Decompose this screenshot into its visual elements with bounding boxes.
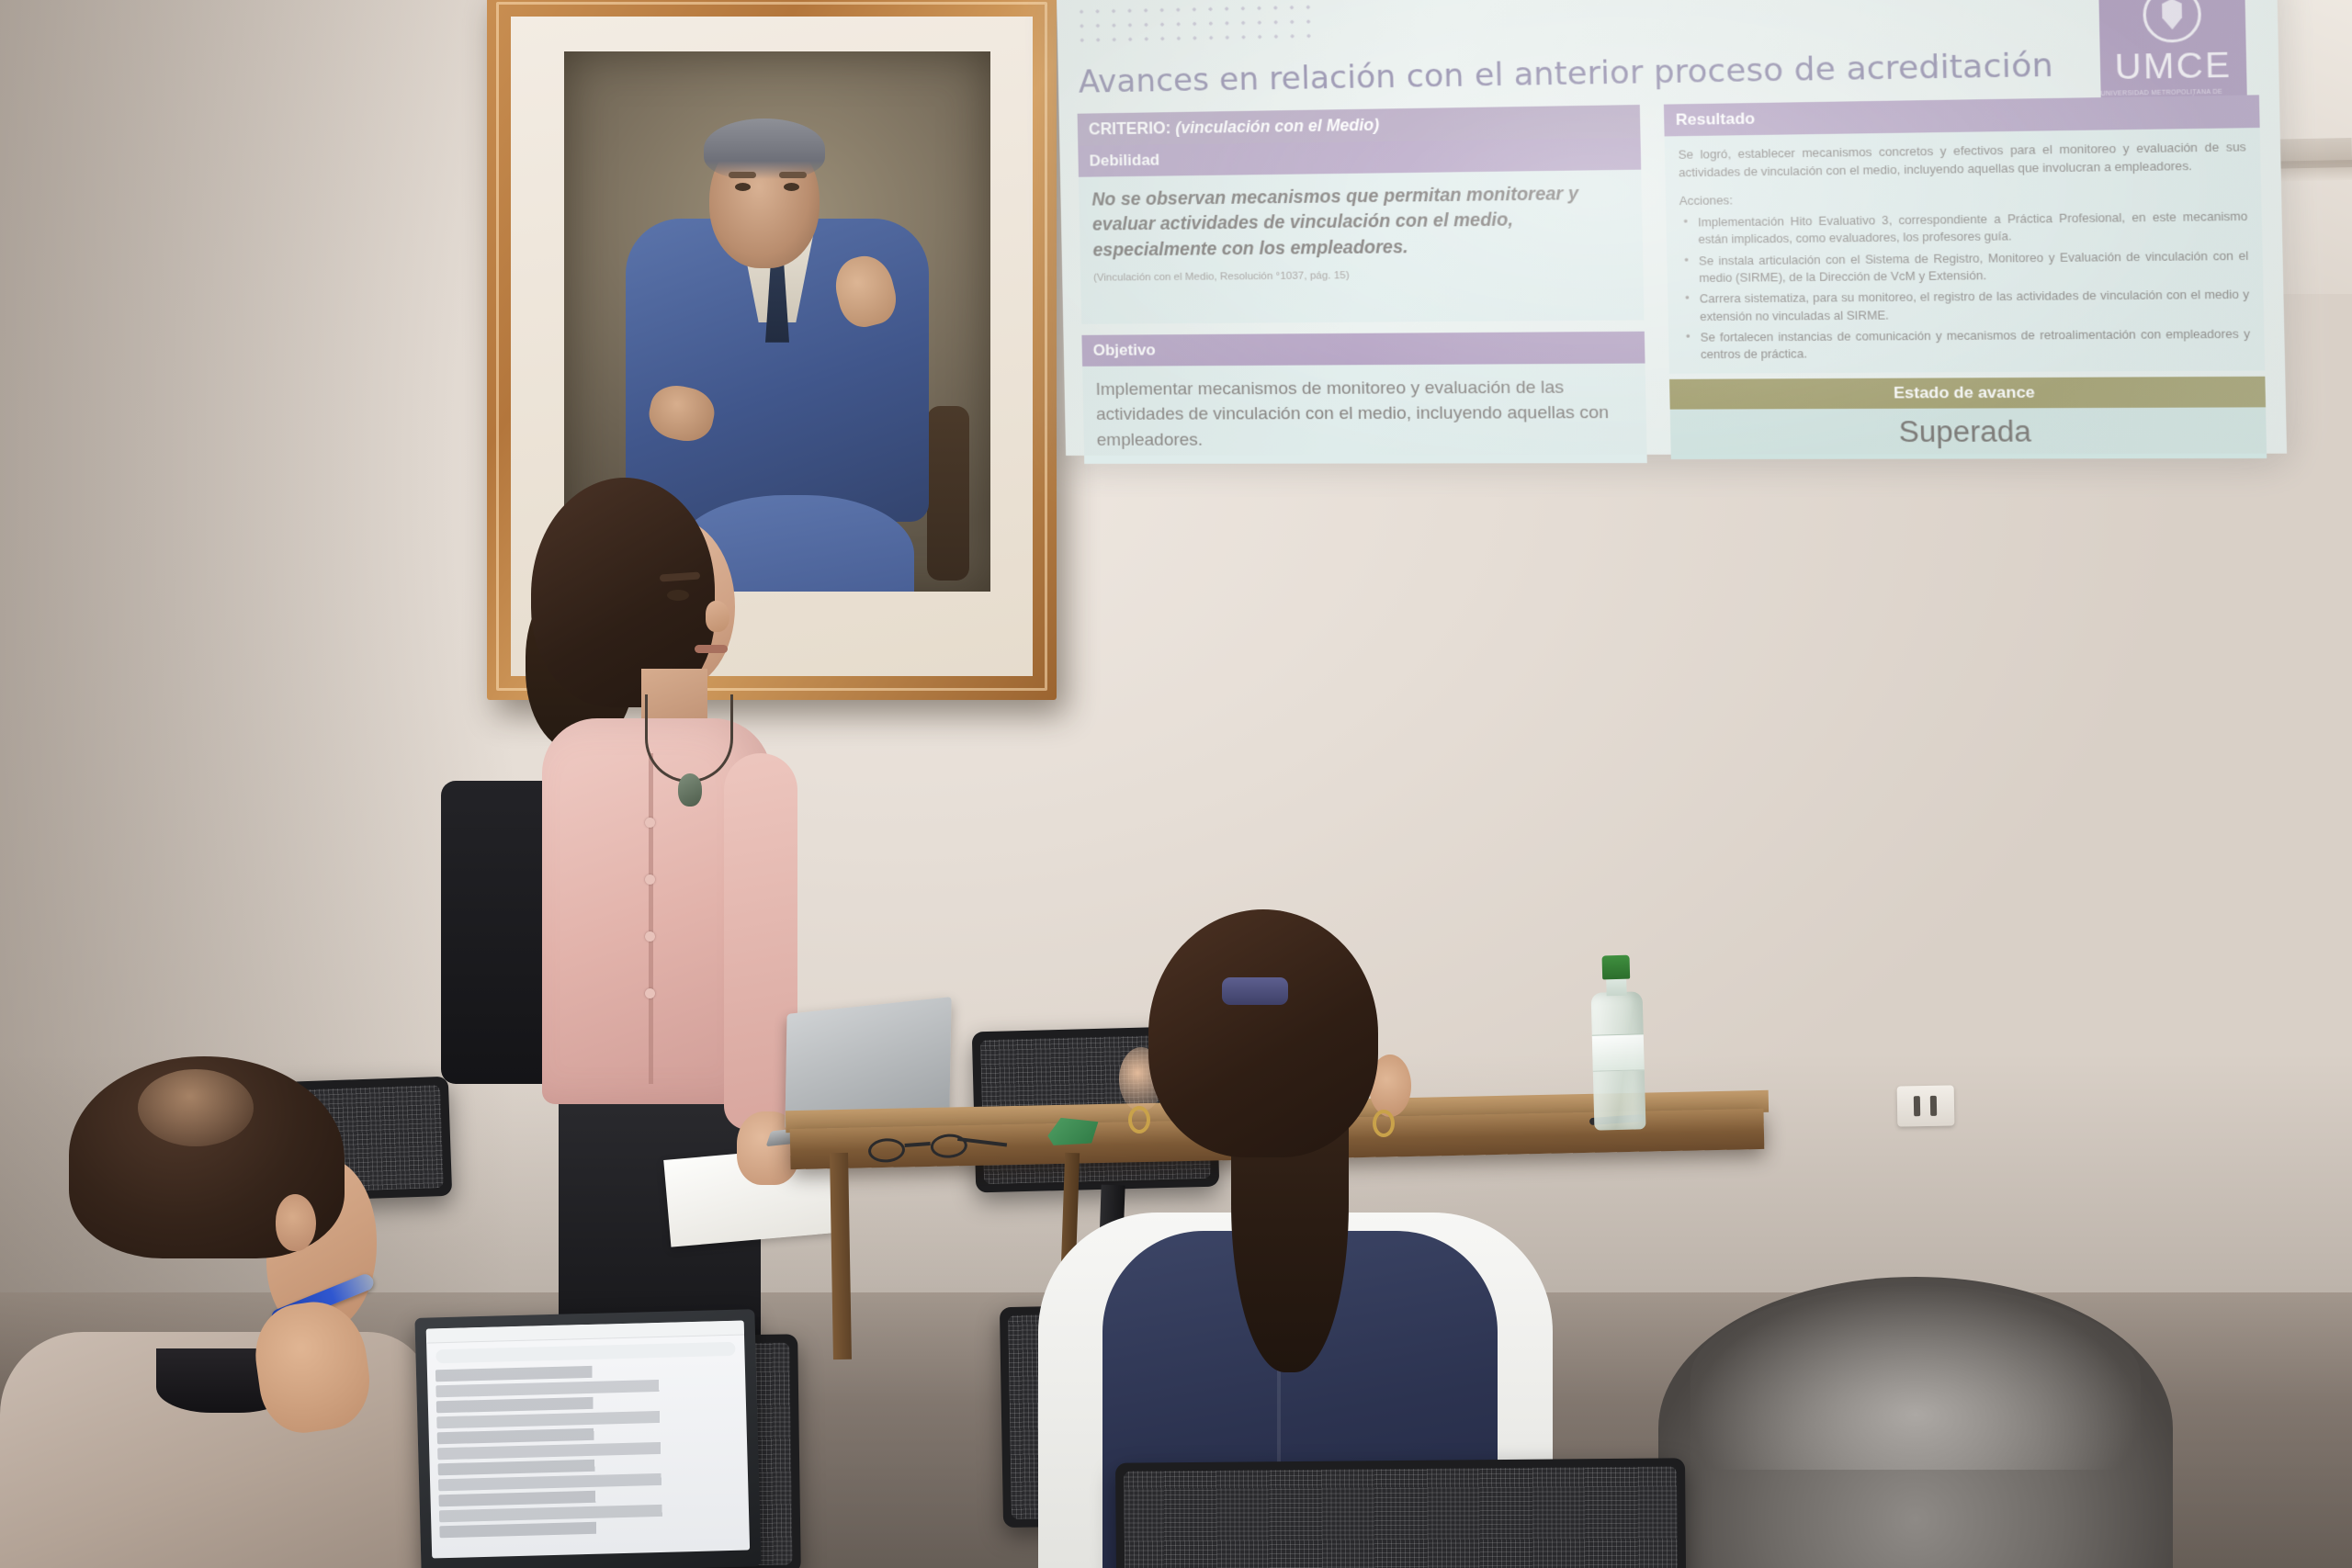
- presenter-necklace: [645, 694, 733, 783]
- eyeglasses-lens-right: [930, 1133, 968, 1159]
- umce-crest-icon: [2143, 0, 2201, 42]
- presenter-pendant: [678, 773, 702, 807]
- accion-item: Se fortalecen instancias de comunicación…: [1682, 325, 2251, 364]
- portrait-brow-left: [729, 172, 756, 178]
- portrait-chair: [927, 406, 969, 581]
- resultado-box: Se logró, establecer mecanismos concreto…: [1665, 128, 2266, 373]
- water-bottle[interactable]: [1590, 954, 1646, 1130]
- debilidad-text: No se observan mecanismos que permitan m…: [1091, 184, 1578, 261]
- attendee-left-scalp: [138, 1069, 254, 1146]
- wall-outlet: [1897, 1085, 1955, 1126]
- presenter-nose: [706, 601, 729, 632]
- portrait-eye-left: [735, 183, 751, 191]
- presenter-lip: [695, 645, 728, 653]
- bottle-neck: [1606, 977, 1627, 997]
- projection-screen: Avances en relación con el anterior proc…: [1057, 0, 2287, 456]
- presenter-eye: [667, 590, 689, 601]
- debilidad-citation: (Vinculación con el Medio, Resolución °1…: [1093, 265, 1630, 286]
- attendee-right-hair: [1690, 1286, 2141, 1470]
- resultado-text: Se logró, establecer mecanismos concreto…: [1679, 139, 2247, 183]
- criterio-value: (vinculación con el Medio): [1175, 116, 1379, 138]
- accion-item: Implementación Hito Evaluativo 3, corres…: [1679, 208, 2248, 249]
- acciones-label: Acciones:: [1679, 186, 2248, 210]
- dot-pattern-decoration: [1073, 0, 1322, 51]
- debilidad-box: No se observan mecanismos que permitan m…: [1079, 169, 1645, 323]
- laptop-search-bar[interactable]: [435, 1342, 735, 1364]
- objetivo-header: Objetivo: [1081, 331, 1645, 366]
- table-leg: [830, 1153, 852, 1359]
- chair[interactable]: [1115, 1458, 1687, 1568]
- slide-title: Avances en relación con el anterior proc…: [1079, 48, 2012, 101]
- presenter-placket: [649, 753, 653, 1084]
- panel-criterio: CRITERIO: (vinculación con el Medio) Deb…: [1078, 105, 1647, 464]
- laptop-toolbar: [426, 1321, 744, 1344]
- portrait-hair: [704, 118, 825, 179]
- umce-wordmark: UMCE: [2114, 47, 2232, 85]
- portrait-brow-right: [779, 172, 807, 178]
- eyeglasses-bridge: [905, 1142, 931, 1146]
- accion-item: Se instala articulación con el Sistema d…: [1680, 247, 2249, 288]
- chair-mesh: [1124, 1466, 1679, 1568]
- acciones-list: Implementación Hito Evaluativo 3, corres…: [1679, 208, 2251, 364]
- bottle-label: [1592, 1033, 1645, 1071]
- attendee-left-ear: [276, 1194, 316, 1251]
- laptop-screen[interactable]: [426, 1321, 750, 1559]
- criterio-label: CRITERIO:: [1089, 118, 1171, 138]
- presenter-button: [645, 931, 655, 942]
- presenter-button: [645, 818, 655, 828]
- presenter-button: [645, 988, 655, 998]
- laptop-attendee[interactable]: [414, 1309, 761, 1568]
- accion-item: Carrera sistematiza, para su monitoreo, …: [1681, 287, 2250, 326]
- estado-avance-value: Superada: [1670, 407, 2267, 459]
- objetivo-box: Implementar mecanismos de monitoreo y ev…: [1082, 363, 1647, 464]
- slide: Avances en relación con el anterior proc…: [1057, 0, 2287, 456]
- attendee-earring-left: [1128, 1106, 1150, 1134]
- attendee-hair-tie: [1222, 977, 1288, 1005]
- panel-resultado: Resultado Se logró, establecer mecanismo…: [1664, 95, 2267, 458]
- attendee-earring-right: [1373, 1110, 1395, 1137]
- eyeglasses-lens-left: [867, 1137, 906, 1164]
- estado-avance-header: Estado de avance: [1669, 377, 2266, 410]
- attendee-head: [1148, 909, 1378, 1157]
- presentation-room-scene: Avances en relación con el anterior proc…: [0, 0, 2352, 1568]
- bottle-cap: [1602, 955, 1631, 980]
- presenter-button: [645, 874, 655, 885]
